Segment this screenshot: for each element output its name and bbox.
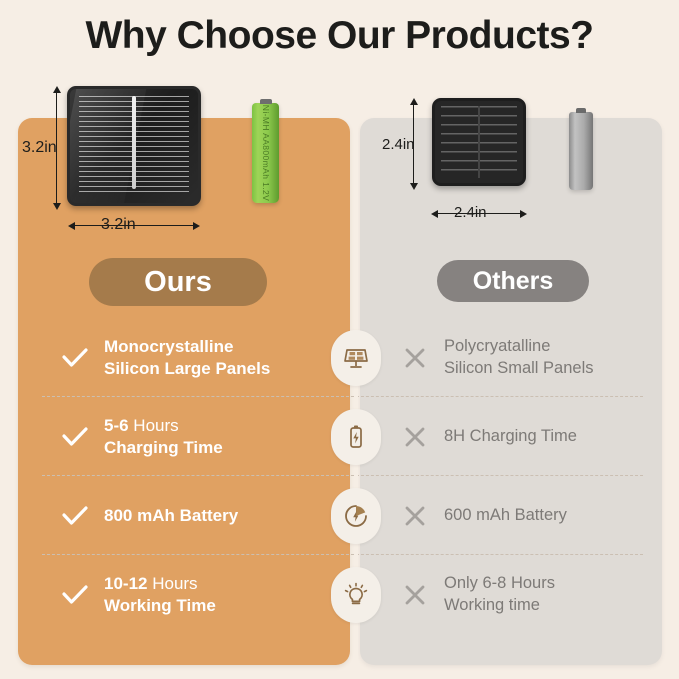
ours-feature-1: Monocrystalline Silicon Large Panels bbox=[60, 318, 325, 397]
others-feature-2: 8H Charging Time bbox=[400, 397, 650, 476]
battery-print-label: Ni-MH AA800mAh 1.2V bbox=[261, 105, 271, 201]
comparison-row: Monocrystalline Silicon Large Panels Pol… bbox=[0, 318, 679, 397]
others-battery-image bbox=[569, 112, 593, 190]
feature-line-2: Charging Time bbox=[104, 438, 223, 457]
feature-line-1: Polycryatalline bbox=[444, 337, 550, 355]
ours-solar-panel-image bbox=[67, 86, 201, 206]
feature-value: 10-12 bbox=[104, 574, 147, 593]
feature-line-1: Only 6-8 Hours bbox=[444, 574, 555, 592]
others-feature-4-text: Only 6-8 Hours Working time bbox=[444, 573, 555, 615]
others-height-label: 2.4in bbox=[382, 136, 415, 153]
battery-charging-icon bbox=[331, 409, 381, 465]
ours-feature-3-text: 800 mAh Battery bbox=[104, 505, 238, 527]
panel-busbar bbox=[132, 96, 136, 190]
ours-feature-2-text: 5-6 Hours Charging Time bbox=[104, 415, 223, 459]
ours-battery-image: Ni-MH AA800mAh 1.2V bbox=[252, 103, 279, 203]
ours-feature-1-text: Monocrystalline Silicon Large Panels bbox=[104, 336, 270, 380]
ours-feature-2: 5-6 Hours Charging Time bbox=[60, 397, 325, 476]
feature-line-2: Working time bbox=[444, 596, 540, 614]
panel-center-divider bbox=[478, 106, 480, 178]
cross-icon bbox=[400, 584, 430, 606]
hero-products: 3.2in 3.2in Ni-MH AA800mAh 1.2V 2.4in 2.… bbox=[0, 0, 679, 240]
ours-feature-4-text: 10-12 Hours Working Time bbox=[104, 573, 216, 617]
battery-positive-cap bbox=[260, 99, 272, 104]
comparison-table: Monocrystalline Silicon Large Panels Pol… bbox=[0, 318, 679, 634]
comparison-row: 10-12 Hours Working Time Only 6-8 Hours bbox=[0, 555, 679, 634]
check-icon bbox=[60, 427, 90, 447]
ours-badge: Ours bbox=[89, 258, 267, 306]
others-feature-1-text: Polycryatalline Silicon Small Panels bbox=[444, 336, 593, 378]
feature-line-2: Silicon Large Panels bbox=[104, 359, 270, 378]
ours-height-label: 3.2in bbox=[22, 139, 57, 157]
feature-line-1: Monocrystalline bbox=[104, 337, 233, 356]
others-width-label: 2.4in bbox=[454, 204, 487, 221]
cross-icon bbox=[400, 505, 430, 527]
cross-icon bbox=[400, 426, 430, 448]
others-badge: Others bbox=[437, 260, 589, 302]
check-icon bbox=[60, 506, 90, 526]
cross-icon bbox=[400, 347, 430, 369]
others-feature-4: Only 6-8 Hours Working time bbox=[400, 555, 650, 634]
feature-unit: Hours bbox=[129, 416, 179, 435]
ours-feature-4: 10-12 Hours Working Time bbox=[60, 555, 325, 634]
solar-panel-icon bbox=[331, 330, 381, 386]
others-feature-3-text: 600 mAh Battery bbox=[444, 505, 567, 526]
others-badge-label: Others bbox=[473, 267, 554, 296]
comparison-row: 5-6 Hours Charging Time 8H Charging Time bbox=[0, 397, 679, 476]
ours-feature-3: 800 mAh Battery bbox=[60, 476, 325, 555]
ours-width-label: 3.2in bbox=[101, 216, 136, 234]
ours-badge-label: Ours bbox=[144, 266, 212, 299]
lightbulb-icon bbox=[331, 567, 381, 623]
feature-unit: Hours bbox=[147, 574, 197, 593]
others-solar-panel-image bbox=[432, 98, 526, 186]
others-feature-2-text: 8H Charging Time bbox=[444, 426, 577, 447]
feature-value: 5-6 bbox=[104, 416, 129, 435]
check-icon bbox=[60, 348, 90, 368]
feature-line-2: Working Time bbox=[104, 596, 216, 615]
fast-charge-icon bbox=[331, 488, 381, 544]
battery-positive-cap bbox=[576, 108, 586, 113]
others-feature-1: Polycryatalline Silicon Small Panels bbox=[400, 318, 650, 397]
comparison-row: 800 mAh Battery 600 mAh Battery bbox=[0, 476, 679, 555]
check-icon bbox=[60, 585, 90, 605]
others-feature-3: 600 mAh Battery bbox=[400, 476, 650, 555]
feature-line-2: Silicon Small Panels bbox=[444, 359, 593, 377]
